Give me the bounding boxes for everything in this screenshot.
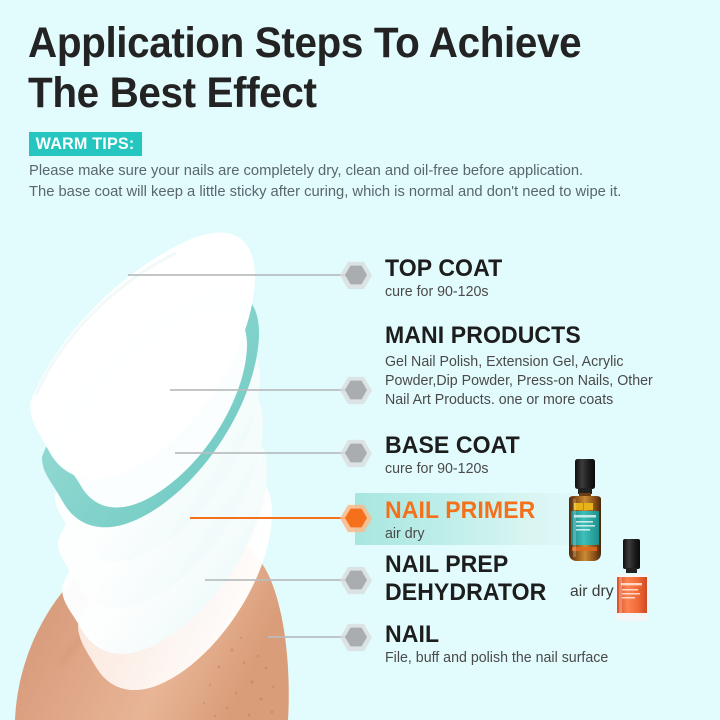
step-mani-products: MANI PRODUCTS Gel Nail Polish, Extension… [385, 322, 715, 410]
step-subtitle-nail-primer: air dry [385, 525, 708, 544]
connector-line-nail-prep-dehydrator [205, 579, 350, 581]
connector-line-base-coat [175, 452, 350, 454]
step-subtitle-nail: File, buff and polish the nail surface [385, 649, 708, 668]
step-base-coat: BASE COAT cure for 90-120s [385, 432, 715, 479]
nail-primer-bottle [557, 457, 613, 565]
step-subtitle-base-coat: cure for 90-120s [385, 460, 708, 479]
infographic-page: Application Steps To Achieve The Best Ef… [0, 0, 720, 720]
connector-line-nail-primer [190, 517, 350, 519]
step-nail: NAIL File, buff and polish the nail surf… [385, 621, 715, 668]
step-title-nail: NAIL [385, 621, 702, 649]
connector-line-nail [268, 636, 350, 638]
step-title-mani-products: MANI PRODUCTS [385, 322, 702, 350]
step-subtitle-top-coat: cure for 90-120s [385, 283, 708, 302]
page-title: Application Steps To Achieve The Best Ef… [28, 18, 667, 118]
warm-tips-badge: WARM TIPS: [29, 132, 142, 156]
step-title-top-coat: TOP COAT [385, 255, 702, 283]
step-subtitle-mani-products: Gel Nail Polish, Extension Gel, Acrylic … [385, 353, 669, 410]
connector-line-mani-products [170, 389, 350, 391]
step-title-nail-primer: NAIL PRIMER [385, 497, 702, 525]
step-nail-primer: NAIL PRIMER air dry [385, 497, 715, 544]
connector-line-top-coat [128, 274, 350, 276]
nail-prep-dehydrator-bottle [608, 537, 656, 625]
step-top-coat: TOP COAT cure for 90-120s [385, 255, 715, 302]
step-title-base-coat: BASE COAT [385, 432, 702, 460]
step-nail-prep-dehydrator: NAIL PREP DEHYDRATOR air dry [385, 551, 715, 607]
